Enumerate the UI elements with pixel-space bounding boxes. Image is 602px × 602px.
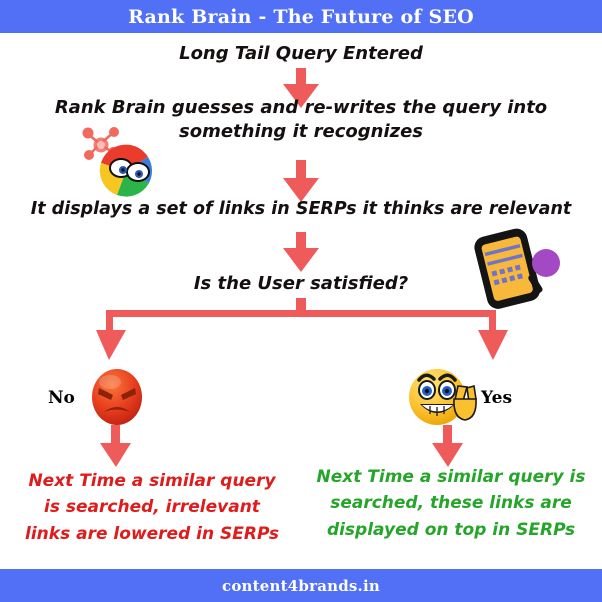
branch-label-yes: Yes [481, 388, 512, 408]
decision-branch-connector [93, 298, 509, 360]
flow-step-long-tail-query: Long Tail Query Entered [0, 42, 602, 66]
flow-arrow-down-2 [271, 160, 331, 202]
angry-face-emoji [86, 366, 148, 428]
outcome-text-yes: Next Time a similar query is searched, t… [302, 464, 600, 543]
flow-step-displays-links: It displays a set of links in SERPs it t… [8, 198, 594, 221]
branch-label-no: No [48, 388, 75, 408]
header-bar: Rank Brain - The Future of SEO [0, 0, 602, 33]
outcome-text-no: Next Time a similar query is searched, i… [2, 468, 302, 547]
chrome-logo-with-eyes-icon [68, 124, 164, 202]
footer-bar: content4brands.in [0, 569, 602, 602]
flow-step-decision-user-satisfied: Is the User satisfied? [0, 272, 602, 296]
victory-smiley-emoji [408, 366, 482, 428]
flow-arrow-down-no-outcome [96, 425, 136, 467]
flow-arrow-down-3 [271, 232, 331, 272]
victory-hand-icon [454, 386, 476, 420]
page-title: Rank Brain - The Future of SEO [128, 6, 474, 28]
footer-brand-text: content4brands.in [222, 577, 380, 595]
flow-arrow-down-yes-outcome [428, 425, 468, 467]
rankbrain-seo-infographic: Rank Brain - The Future of SEO Long Tail… [0, 0, 602, 602]
